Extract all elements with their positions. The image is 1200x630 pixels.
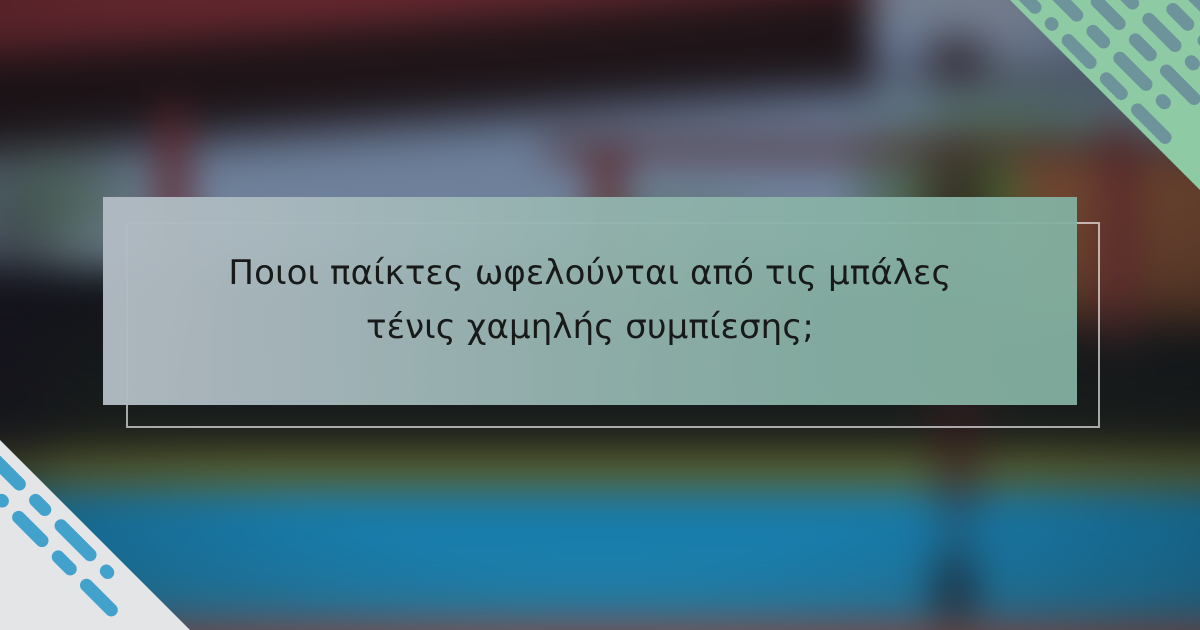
headline-card: Ποιοι παίκτες ωφελούνται από τις μπάλες … [103,197,1077,405]
headline-text: Ποιοι παίκτες ωφελούνται από τις μπάλες … [220,247,960,354]
share-card-canvas: Ποιοι παίκτες ωφελούνται από τις μπάλες … [0,0,1200,630]
